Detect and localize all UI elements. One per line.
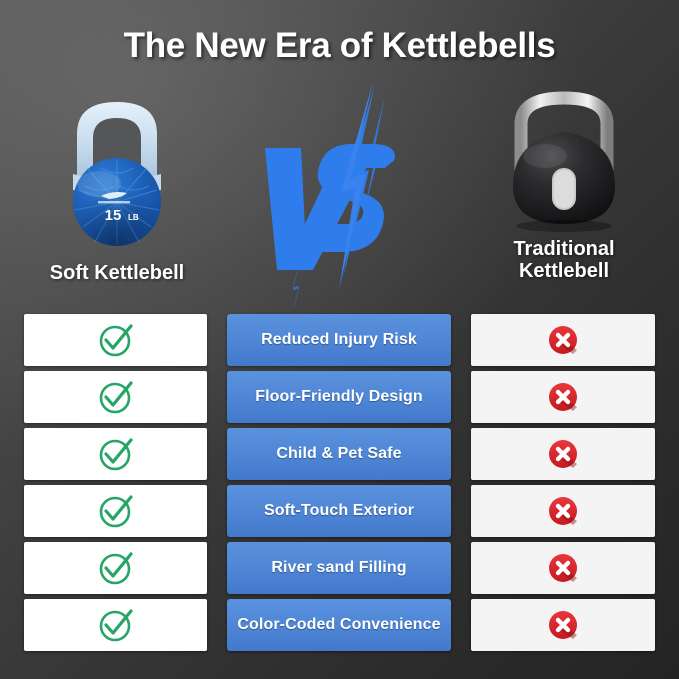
versus-column: VS: [247, 82, 432, 307]
red-x-circle-icon: [547, 552, 579, 584]
soft-kettlebell-cell: [24, 542, 207, 594]
feature-cell: Soft-Touch Exterior: [227, 485, 451, 537]
table-row: Reduced Injury Risk: [0, 314, 679, 366]
feature-cell: Color-Coded Convenience: [227, 599, 451, 651]
traditional-kettlebell-column: Traditional Kettlebell: [455, 82, 673, 307]
comparison-grid: Reduced Injury RiskFloor-Friendly Design…: [0, 314, 679, 672]
red-x-circle-icon: [547, 324, 579, 356]
green-check-circle-icon: [97, 606, 135, 644]
soft-kettlebell-cell: [24, 428, 207, 480]
versus-lightning-graphic: [247, 82, 432, 307]
traditional-caption-line2: Kettlebell: [455, 260, 673, 282]
feature-cell: Floor-Friendly Design: [227, 371, 451, 423]
weight-value: 15: [105, 207, 122, 224]
green-check-circle-icon: [97, 549, 135, 587]
green-check-circle-icon: [97, 321, 135, 359]
feature-label: Color-Coded Convenience: [237, 616, 440, 634]
traditional-kettlebell-image: [455, 82, 673, 232]
soft-kettlebell-cell: [24, 485, 207, 537]
green-check-circle-icon: [97, 492, 135, 530]
soft-kettlebell-cell: [24, 314, 207, 366]
red-x-circle-icon: [547, 381, 579, 413]
soft-kettlebell-cell: [24, 371, 207, 423]
table-row: Floor-Friendly Design: [0, 371, 679, 423]
table-row: Soft-Touch Exterior: [0, 485, 679, 537]
feature-label: River sand Filling: [271, 559, 406, 577]
feature-label: Floor-Friendly Design: [255, 388, 422, 406]
soft-kettlebell-cell: [24, 599, 207, 651]
traditional-kettlebell-cell: [471, 485, 655, 537]
table-row: Child & Pet Safe: [0, 428, 679, 480]
feature-label: Reduced Injury Risk: [261, 331, 417, 349]
green-check-circle-icon: [97, 378, 135, 416]
red-x-circle-icon: [547, 495, 579, 527]
soft-kettlebell-caption: Soft Kettlebell: [6, 262, 228, 284]
traditional-kettlebell-cell: [471, 371, 655, 423]
traditional-kettlebell-cell: [471, 542, 655, 594]
traditional-kettlebell-caption: Traditional Kettlebell: [455, 238, 673, 282]
feature-cell: Child & Pet Safe: [227, 428, 451, 480]
feature-cell: River sand Filling: [227, 542, 451, 594]
traditional-kettlebell-cell: [471, 599, 655, 651]
red-x-circle-icon: [547, 609, 579, 641]
traditional-kettlebell-cell: [471, 428, 655, 480]
page-title: The New Era of Kettlebells: [0, 26, 679, 66]
table-row: Color-Coded Convenience: [0, 599, 679, 651]
feature-label: Child & Pet Safe: [276, 445, 401, 463]
feature-cell: Reduced Injury Risk: [227, 314, 451, 366]
red-x-circle-icon: [547, 438, 579, 470]
table-row: River sand Filling: [0, 542, 679, 594]
weight-unit: LB: [128, 213, 139, 222]
traditional-kettlebell-cell: [471, 314, 655, 366]
green-check-circle-icon: [97, 435, 135, 473]
comparison-infographic: The New Era of Kettlebells: [0, 0, 679, 679]
traditional-caption-line1: Traditional: [455, 238, 673, 260]
feature-label: Soft-Touch Exterior: [264, 502, 414, 520]
soft-kettlebell-image: 15 LB: [6, 82, 228, 252]
hero-section: 15 LB Soft Kettlebell: [0, 82, 679, 307]
soft-kettlebell-column: 15 LB Soft Kettlebell: [6, 82, 228, 307]
